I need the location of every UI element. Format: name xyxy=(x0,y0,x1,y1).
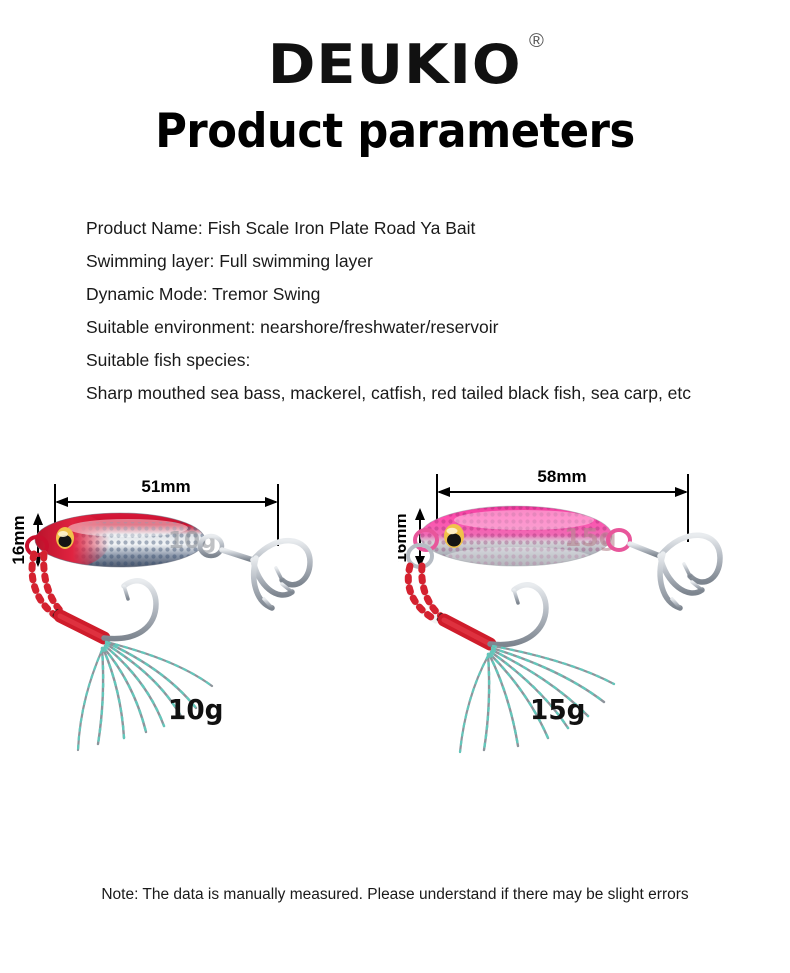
product-figures: 51mm 16mm xyxy=(0,462,790,762)
spec-line-environment: Suitable environment: nearshore/freshwat… xyxy=(86,311,726,344)
page-title: Product parameters xyxy=(32,104,759,160)
spec-line-dynamic-mode: Dynamic Mode: Tremor Swing xyxy=(86,278,726,311)
registered-trademark-icon: ® xyxy=(529,32,545,51)
footer-note: Note: The data is manually measured. Ple… xyxy=(0,884,790,906)
spec-line-fish-species-detail: Sharp mouthed sea bass, mackerel, catfis… xyxy=(86,377,726,410)
weight-caption-15g: 15g xyxy=(530,694,585,726)
treble-hook-15g xyxy=(630,535,720,608)
assist-hook-15g xyxy=(444,585,546,645)
lure-body-15g: 15g xyxy=(418,506,618,569)
dimension-height-label-10g: 16mm xyxy=(10,515,28,564)
weight-caption-10g: 10g xyxy=(168,694,223,726)
specification-list: Product Name: Fish Scale Iron Plate Road… xyxy=(86,212,726,410)
body-stamp-10g: 10g xyxy=(168,528,216,554)
spec-line-swimming-layer: Swimming layer: Full swimming layer xyxy=(86,245,726,278)
dimension-width-label-15g: 58mm xyxy=(537,467,586,486)
treble-hook-10g xyxy=(222,541,310,608)
spec-line-product-name: Product Name: Fish Scale Iron Plate Road… xyxy=(86,212,726,245)
assist-hook-10g xyxy=(60,581,156,639)
product-figure-15g: 58mm 16mm xyxy=(398,462,778,762)
brand-name-text: DEUKIO xyxy=(268,33,522,96)
dimension-width-label-10g: 51mm xyxy=(141,477,190,496)
lure-15g-illustration: 58mm 16mm xyxy=(398,462,778,762)
brand-wordmark: DEUKIO ® xyxy=(268,36,522,94)
brand-logo: DEUKIO ® xyxy=(0,36,790,94)
spec-line-fish-species: Suitable fish species: xyxy=(86,344,726,377)
